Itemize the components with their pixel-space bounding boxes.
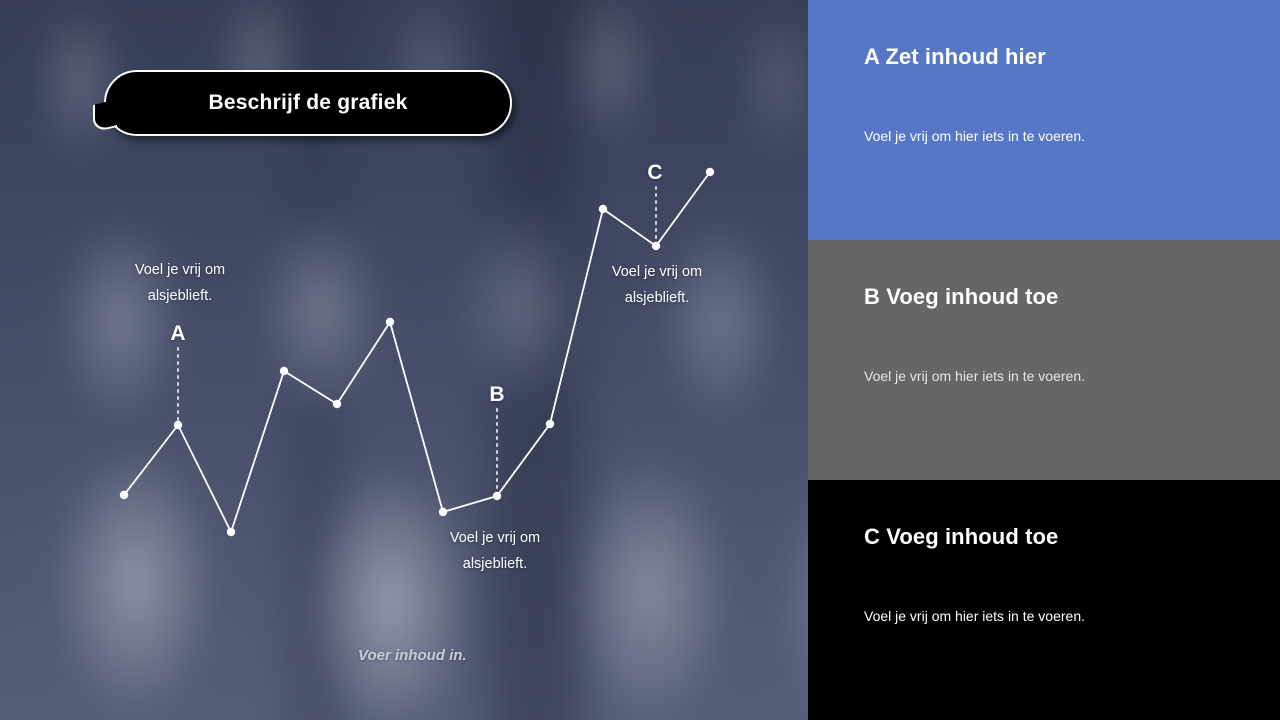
chart-data-point[interactable] [386, 318, 394, 326]
side-panel-c[interactable]: C Voeg inhoud toe Voel je vrij om hier i… [808, 480, 1280, 720]
side-panel-stack: A Zet inhoud hier Voel je vrij om hier i… [808, 0, 1280, 720]
chart-note-line: Voel je vrij om [135, 257, 225, 283]
chart-panel: AVoel je vrij omalsjeblieft.BVoel je vri… [0, 0, 808, 720]
chart-point-note-a[interactable]: Voel je vrij omalsjeblieft. [135, 257, 225, 309]
chart-data-point[interactable] [174, 421, 182, 429]
side-panel-b[interactable]: B Voeg inhoud toe Voel je vrij om hier i… [808, 240, 1280, 480]
chart-point-note-b[interactable]: Voel je vrij omalsjeblieft. [450, 525, 540, 577]
side-panel-a-title: A Zet inhoud hier [864, 44, 1224, 70]
chart-point-label-a[interactable]: A [170, 322, 185, 346]
chart-data-point[interactable] [120, 491, 128, 499]
speech-bubble-tail-fill [110, 98, 128, 124]
chart-note-line: Voel je vrij om [612, 259, 702, 285]
side-panel-b-title: B Voeg inhoud toe [864, 284, 1224, 310]
chart-footnote[interactable]: Voer inhoud in. [358, 647, 467, 664]
chart-note-line: alsjeblieft. [612, 285, 702, 311]
title-speech-bubble[interactable]: Beschrijf de grafiek [104, 70, 512, 136]
chart-data-point[interactable] [599, 205, 607, 213]
page-title: Beschrijf de grafiek [209, 91, 408, 115]
side-panel-a[interactable]: A Zet inhoud hier Voel je vrij om hier i… [808, 0, 1280, 240]
chart-data-point[interactable] [439, 508, 447, 516]
slide-canvas: AVoel je vrij omalsjeblieft.BVoel je vri… [0, 0, 1280, 720]
side-panel-c-body[interactable]: Voel je vrij om hier iets in te voeren. [864, 608, 1085, 624]
chart-data-point[interactable] [546, 420, 554, 428]
chart-point-label-c[interactable]: C [647, 161, 662, 185]
side-panel-c-title: C Voeg inhoud toe [864, 524, 1224, 550]
chart-data-point[interactable] [706, 168, 714, 176]
chart-note-line: alsjeblieft. [135, 283, 225, 309]
chart-series-line [124, 172, 710, 532]
chart-note-line: Voel je vrij om [450, 525, 540, 551]
chart-point-note-c[interactable]: Voel je vrij omalsjeblieft. [612, 259, 702, 311]
chart-data-point[interactable] [333, 400, 341, 408]
chart-point-label-b[interactable]: B [489, 383, 504, 407]
side-panel-b-body[interactable]: Voel je vrij om hier iets in te voeren. [864, 368, 1085, 384]
chart-data-point[interactable] [493, 492, 501, 500]
chart-data-point[interactable] [652, 242, 660, 250]
chart-data-point[interactable] [280, 367, 288, 375]
chart-note-line: alsjeblieft. [450, 551, 540, 577]
chart-data-point[interactable] [227, 528, 235, 536]
side-panel-a-body[interactable]: Voel je vrij om hier iets in te voeren. [864, 128, 1085, 144]
